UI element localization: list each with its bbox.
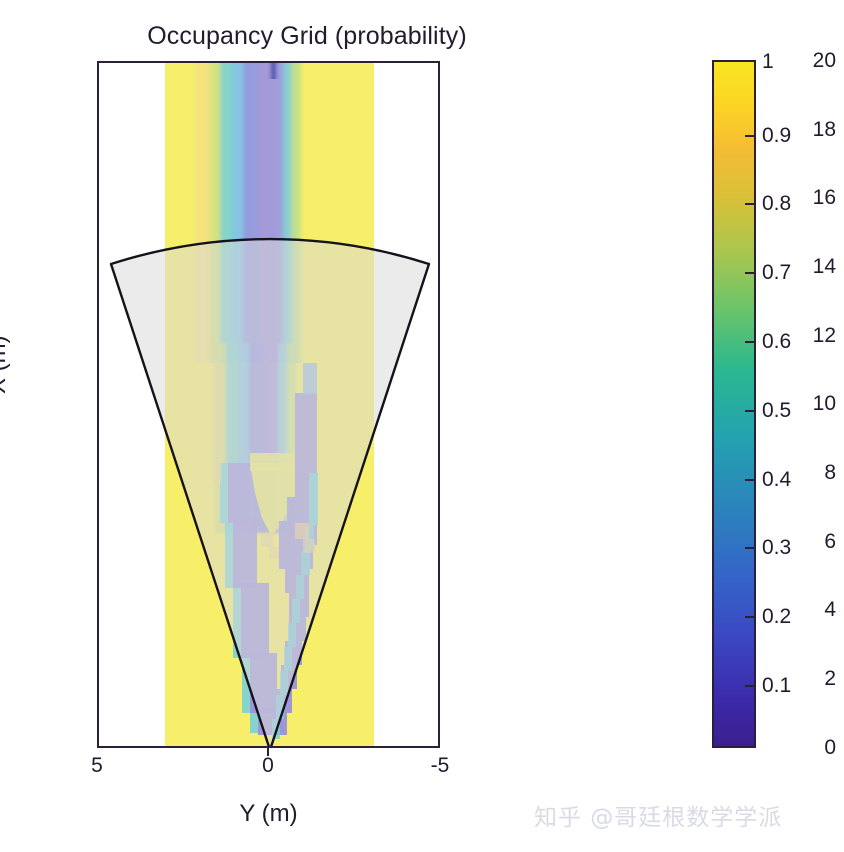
x-tick-label: 5 — [91, 754, 103, 778]
colorbar-tick-mark — [745, 272, 754, 274]
plot-clip — [99, 63, 438, 746]
colorbar-tick-label: 0.8 — [762, 192, 791, 216]
colorbar-tick-mark — [745, 616, 754, 618]
sensor-cone-overlay — [111, 239, 429, 746]
page-title: Occupancy Grid (probability) — [97, 22, 517, 51]
occupancy-grid-plot[interactable] — [97, 61, 440, 748]
y-tick-label: 10 — [813, 392, 836, 416]
colorbar-tick-label: 0.6 — [762, 330, 791, 354]
y-tick-label: 6 — [824, 530, 836, 554]
colorbar-tick-label: 0.7 — [762, 261, 791, 285]
colorbar-tick-label: 0.2 — [762, 605, 791, 629]
colorbar-tick-mark — [745, 410, 754, 412]
x-axis-label: Y (m) — [97, 800, 440, 828]
colorbar[interactable] — [712, 60, 756, 748]
colorbar-tick-label: 0.3 — [762, 536, 791, 560]
colorbar-tick-label: 1 — [762, 50, 774, 74]
colorbar-tick-mark — [745, 479, 754, 481]
watermark: 知乎 @哥廷根数学学派 — [534, 798, 782, 832]
colorbar-tick-label: 0.1 — [762, 674, 791, 698]
y-tick-label: 4 — [824, 598, 836, 622]
y-tick-label: 14 — [813, 255, 836, 279]
y-tick-label: 2 — [824, 667, 836, 691]
y-tick-label: 12 — [813, 324, 836, 348]
x-tick-mark — [267, 748, 269, 756]
colorbar-tick-mark — [745, 203, 754, 205]
y-tick-label: 0 — [824, 736, 836, 760]
colorbar-tick-label: 0.9 — [762, 124, 791, 148]
colorbar-tick-mark — [745, 135, 754, 137]
colorbar-tick-mark — [745, 547, 754, 549]
y-tick-label: 8 — [824, 461, 836, 485]
x-tick-label: 0 — [262, 754, 274, 778]
y-tick-label: 18 — [813, 118, 836, 142]
y-axis-label: X (m) — [0, 335, 12, 394]
x-tick-label: -5 — [431, 754, 450, 778]
occupancy-grid-image — [99, 63, 438, 746]
y-tick-label: 20 — [813, 49, 836, 73]
colorbar-tick-mark — [745, 685, 754, 687]
y-tick-label: 16 — [813, 186, 836, 210]
colorbar-tick-mark — [745, 341, 754, 343]
figure-canvas: Occupancy Grid (probability) 0 2 4 6 8 1… — [0, 0, 844, 852]
colorbar-tick-label: 0.4 — [762, 468, 791, 492]
colorbar-tick-label: 0.5 — [762, 399, 791, 423]
